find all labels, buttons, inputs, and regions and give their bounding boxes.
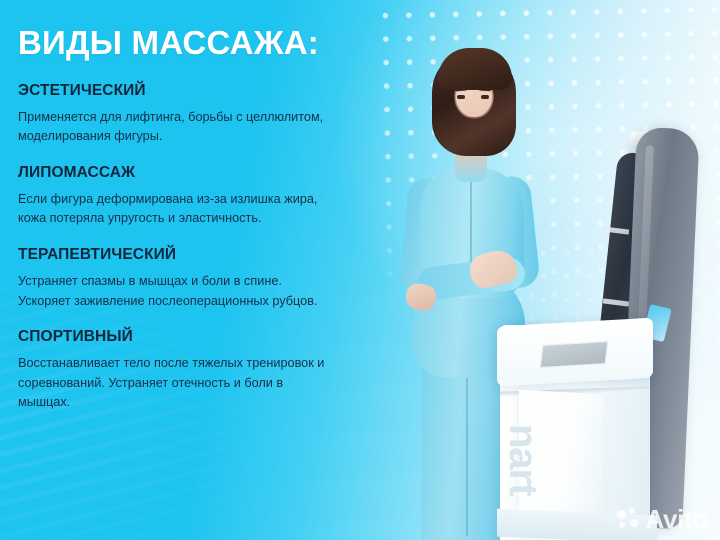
text-column: ВИДЫ МАССАЖА: ЭСТЕТИЧЕСКИЙ Применяется д… — [0, 0, 420, 540]
section-body-line: кожа потеряла упругость и эластичность. — [18, 209, 396, 229]
section-body-line: мышцах. — [18, 393, 396, 413]
section-body-line: Ускоряет заживление послеоперационных ру… — [18, 292, 396, 312]
page-title: ВИДЫ МАССАЖА: — [18, 26, 402, 60]
section-body-line: Применяется для лифтинга, борьбы с целлю… — [18, 108, 396, 128]
section-body: Применяется для лифтинга, борьбы с целлю… — [18, 108, 396, 147]
model-hair-top — [438, 48, 512, 90]
section-heading: СПОРТИВНЫЙ — [18, 328, 402, 346]
section-therapeutic: ТЕРАПЕВТИЧЕСКИЙ Устраняет спазмы в мышца… — [18, 246, 402, 311]
section-body: Если фигура деформирована из-за излишка … — [18, 190, 396, 229]
section-lipomassage: ЛИПОМАССАЖ Если фигура деформирована из-… — [18, 164, 402, 229]
section-body-line: моделирования фигуры. — [18, 127, 396, 147]
section-heading: ЭСТЕТИЧЕСКИЙ — [18, 82, 402, 100]
section-body-line: Если фигура деформирована из-за излишка … — [18, 190, 396, 210]
section-aesthetic: ЭСТЕТИЧЕСКИЙ Применяется для лифтинга, б… — [18, 82, 402, 147]
section-body-line: Устраняет спазмы в мышцах и боли в спине… — [18, 272, 396, 292]
section-body-line: соревнований. Устраняет отечность и боли… — [18, 374, 396, 394]
avito-dots-icon — [617, 508, 640, 530]
section-body: Восстанавливает тело после тяжелых трени… — [18, 354, 396, 413]
avito-watermark: Avito — [617, 506, 708, 532]
massage-types-poster: nart ВИДЫ МАССАЖА: ЭСТЕТИЧЕСКИЙ Применяе… — [0, 0, 720, 540]
machine-display-screen — [540, 341, 609, 368]
section-heading: ТЕРАПЕВТИЧЕСКИЙ — [18, 246, 402, 264]
avito-brand-label: Avito — [645, 506, 708, 532]
section-body: Устраняет спазмы в мышцах и боли в спине… — [18, 272, 396, 311]
section-body-line: Восстанавливает тело после тяжелых трени… — [18, 354, 396, 374]
section-heading: ЛИПОМАССАЖ — [18, 164, 402, 182]
machine-brand-label: nart — [500, 424, 545, 496]
section-sport: СПОРТИВНЫЙ Восстанавливает тело после тя… — [18, 328, 402, 413]
